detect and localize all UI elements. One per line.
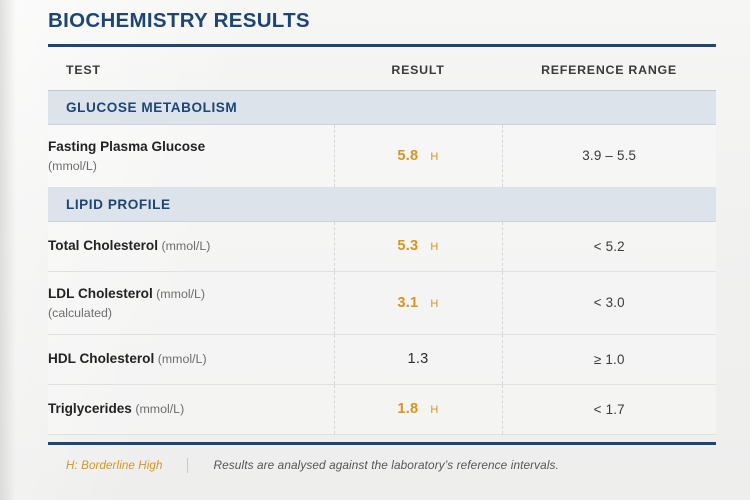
cell-result: 5.8H — [334, 124, 502, 187]
test-name: LDL Cholesterol — [48, 286, 153, 301]
result-value: 1.8 — [397, 401, 418, 417]
section-label: LIPID PROFILE — [48, 187, 716, 221]
status-badge: H — [430, 298, 438, 310]
result-value: 1.3 — [408, 351, 429, 367]
cell-reference-range: 3.9 – 5.5 — [502, 124, 716, 187]
cell-result: 1.8H — [334, 384, 502, 434]
status-badge: H — [430, 151, 438, 163]
table-row[interactable]: HDL Cholesterol (mmol/L)1.3≥ 1.0 — [48, 334, 716, 384]
test-unit: (mmol/L) — [153, 287, 205, 301]
table-header: TEST RESULT REFERENCE RANGE — [48, 47, 716, 91]
legend-disclaimer: Results are analysed against the laborat… — [214, 458, 559, 472]
table-body: GLUCOSE METABOLISMFasting Plasma Glucose… — [48, 90, 716, 434]
result-wrapper: 1.3 — [408, 350, 429, 368]
result-wrapper: 5.3H — [397, 237, 438, 255]
table-row[interactable]: Fasting Plasma Glucose(mmol/L)5.8H3.9 – … — [48, 124, 716, 187]
status-badge: H — [430, 404, 438, 416]
cell-reference-range: ≥ 1.0 — [502, 334, 716, 384]
section-header-row: GLUCOSE METABOLISM — [48, 90, 716, 124]
cell-reference-range: < 5.2 — [502, 221, 716, 271]
cell-result: 5.3H — [334, 221, 502, 271]
cell-test-name: Total Cholesterol (mmol/L) — [48, 221, 334, 271]
legend-separator — [187, 458, 188, 473]
results-card: BIOCHEMISTRY RESULTS TEST RESULT REFEREN… — [48, 0, 716, 473]
cell-result: 3.1H — [334, 271, 502, 334]
cell-reference-range: < 3.0 — [502, 271, 716, 334]
section-label: GLUCOSE METABOLISM — [48, 90, 716, 124]
result-value: 3.1 — [397, 295, 418, 311]
section-header-row: LIPID PROFILE — [48, 187, 716, 221]
result-value: 5.3 — [397, 238, 418, 254]
cell-result: 1.3 — [334, 334, 502, 384]
footer-legend: H: Borderline High Results are analysed … — [48, 445, 716, 473]
cell-reference-range: < 1.7 — [502, 384, 716, 434]
status-badge: H — [430, 241, 438, 253]
cell-test-name: LDL Cholesterol (mmol/L)(calculated) — [48, 271, 334, 334]
page-title: BIOCHEMISTRY RESULTS — [48, 0, 716, 33]
results-table: TEST RESULT REFERENCE RANGE GLUCOSE META… — [48, 47, 716, 435]
test-unit: (mmol/L) — [132, 402, 184, 416]
column-header-reference-range: REFERENCE RANGE — [502, 47, 716, 91]
column-header-test: TEST — [48, 47, 334, 91]
result-wrapper: 5.8H — [397, 147, 438, 165]
column-header-result: RESULT — [334, 47, 502, 91]
legend-flag-key: H: Borderline High — [66, 459, 163, 472]
test-name: Fasting Plasma Glucose — [48, 139, 205, 154]
test-subnote: (calculated) — [48, 305, 334, 322]
result-wrapper: 3.1H — [397, 294, 438, 312]
result-wrapper: 1.8H — [397, 400, 438, 418]
cell-test-name: HDL Cholesterol (mmol/L) — [48, 334, 334, 384]
test-unit: (mmol/L) — [154, 352, 206, 366]
test-name: Total Cholesterol — [48, 238, 158, 253]
cell-test-name: Fasting Plasma Glucose(mmol/L) — [48, 124, 334, 187]
table-row[interactable]: LDL Cholesterol (mmol/L)(calculated)3.1H… — [48, 271, 716, 334]
header-row: TEST RESULT REFERENCE RANGE — [48, 47, 716, 91]
test-name: Triglycerides — [48, 401, 132, 416]
table-row[interactable]: Triglycerides (mmol/L)1.8H< 1.7 — [48, 384, 716, 434]
cell-test-name: Triglycerides (mmol/L) — [48, 384, 334, 434]
result-value: 5.8 — [397, 148, 418, 164]
test-unit: (mmol/L) — [158, 239, 210, 253]
test-subnote: (mmol/L) — [48, 158, 334, 175]
test-name: HDL Cholesterol — [48, 351, 154, 366]
report-page: BIOCHEMISTRY RESULTS TEST RESULT REFEREN… — [0, 0, 750, 500]
table-row[interactable]: Total Cholesterol (mmol/L)5.3H< 5.2 — [48, 221, 716, 271]
